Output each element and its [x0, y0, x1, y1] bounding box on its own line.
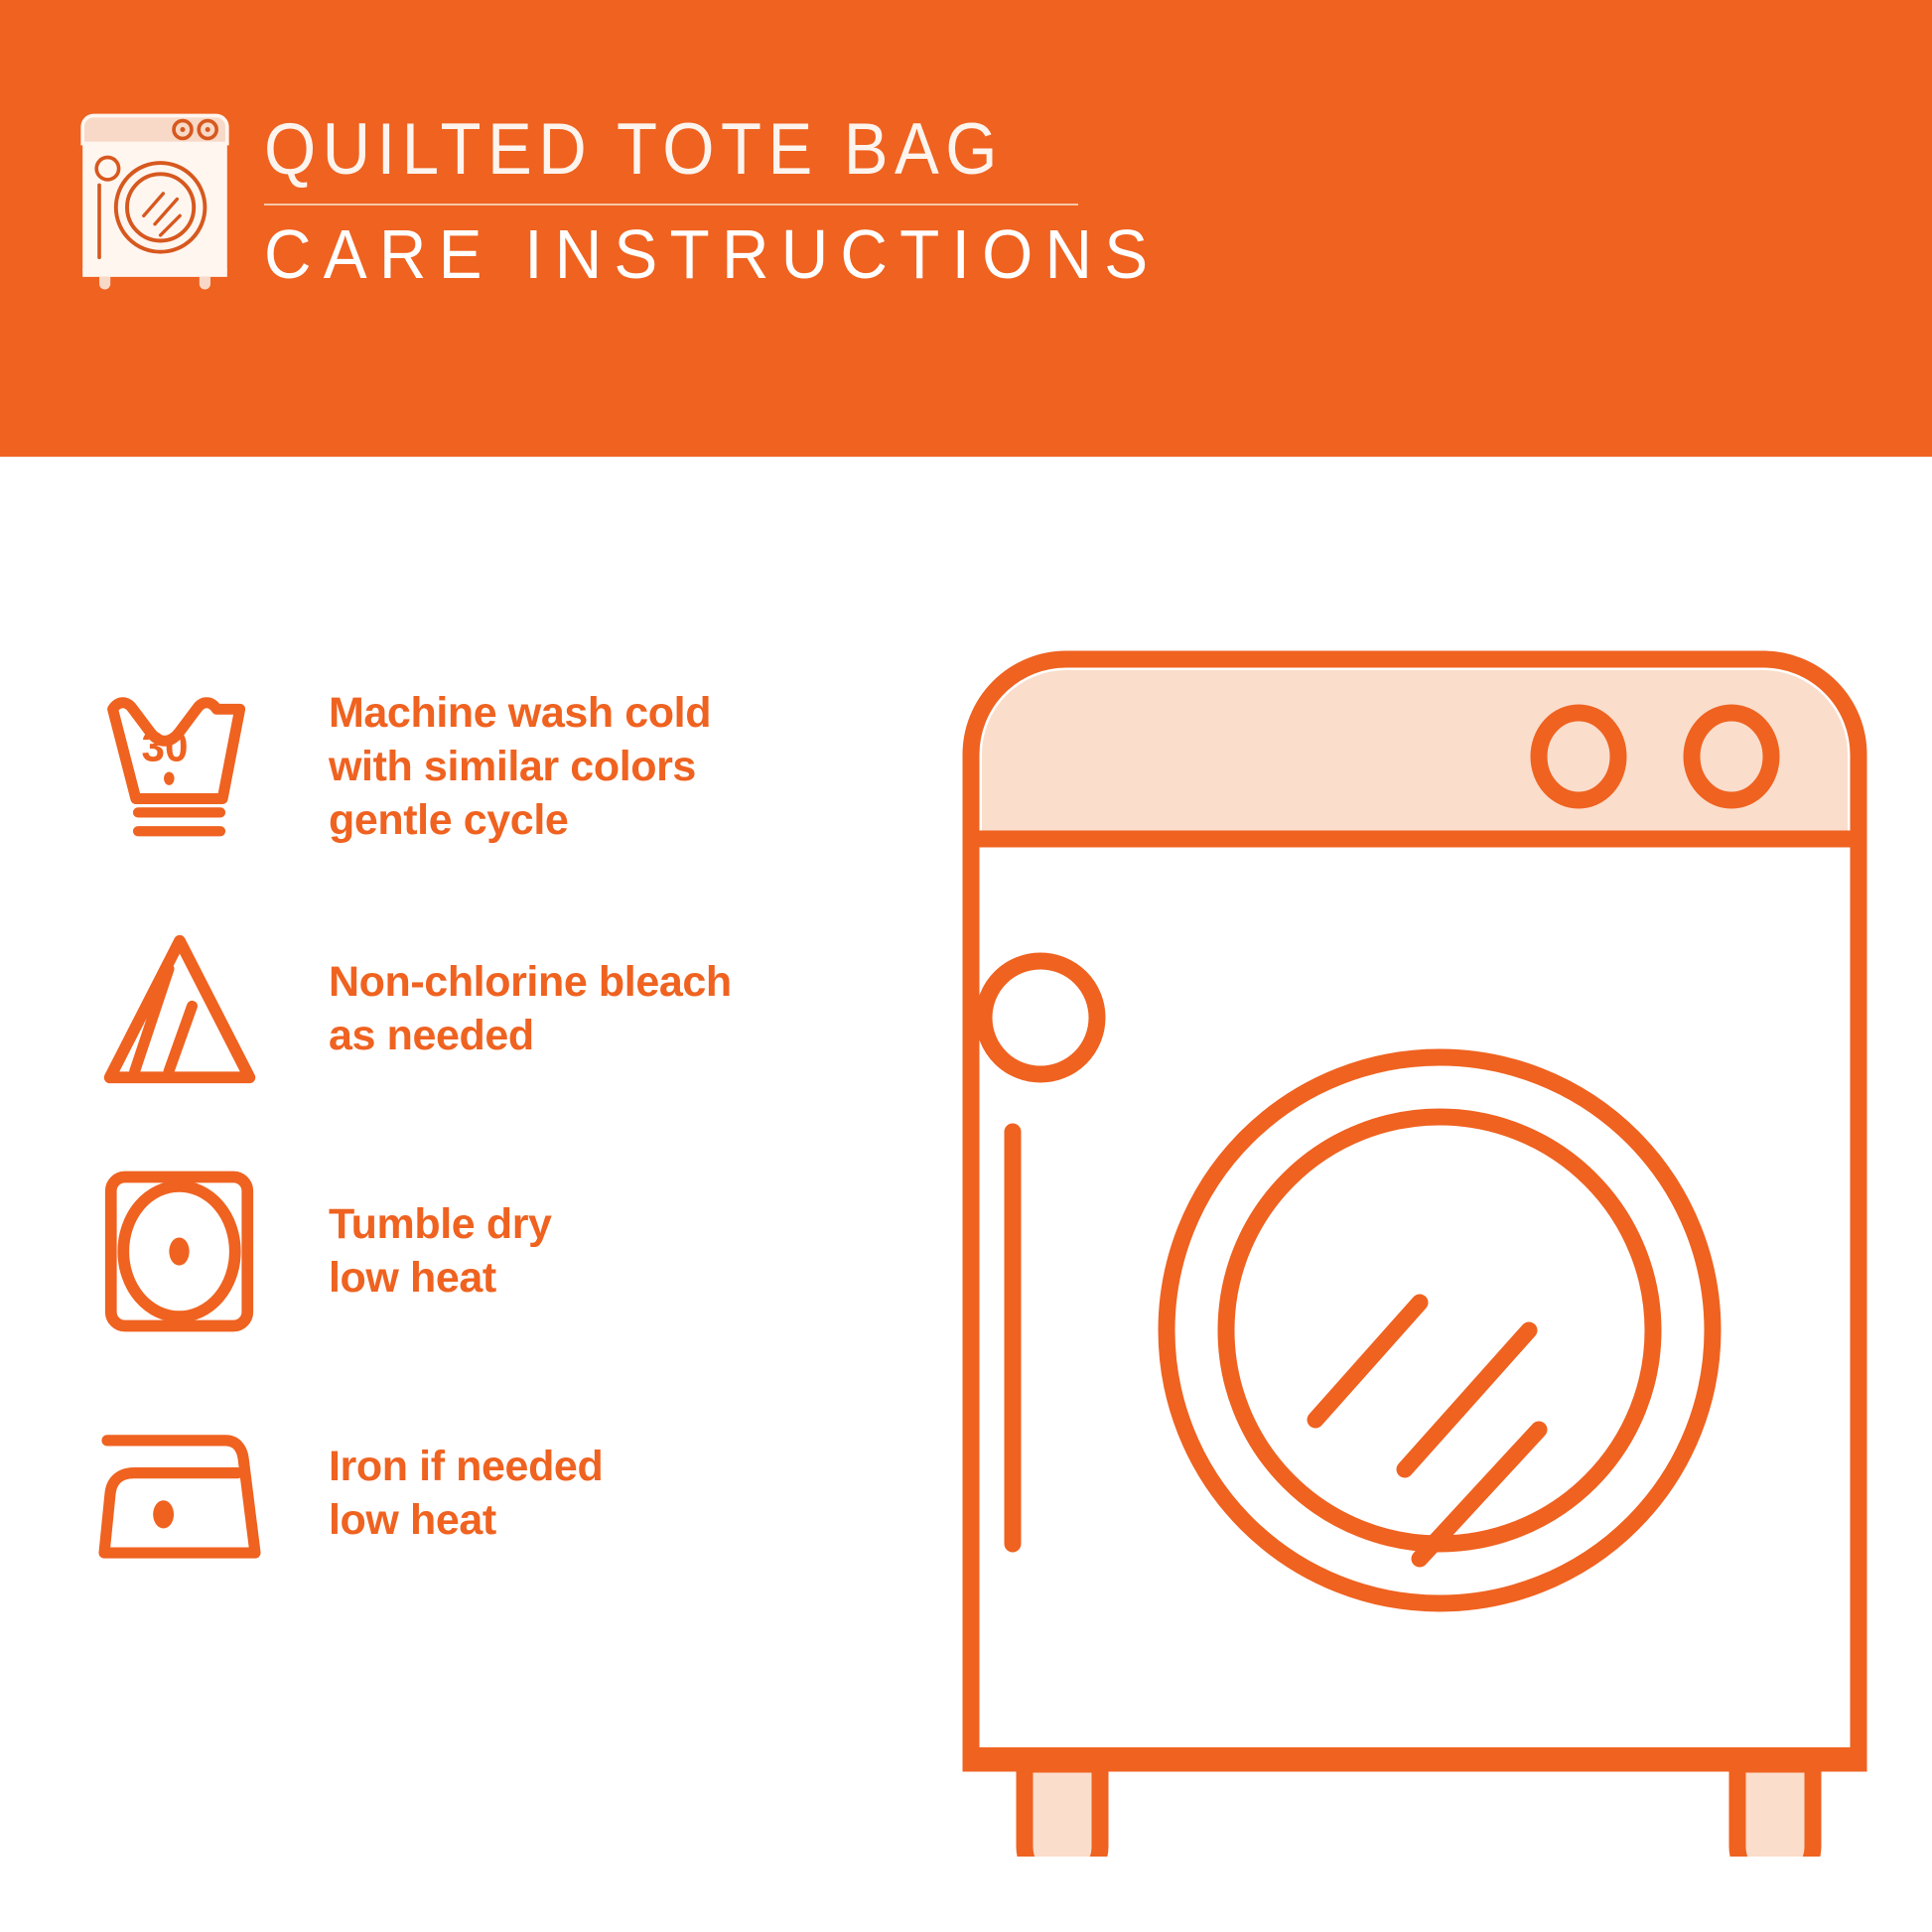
- care-line: as needed: [329, 1009, 732, 1062]
- wash-temperature-label: 30: [141, 723, 188, 769]
- header-banner: QUILTED TOTE BAG CARE INSTRUCTIONS: [0, 0, 1932, 457]
- care-line: low heat: [329, 1493, 603, 1547]
- care-line: with similar colors: [329, 740, 711, 793]
- care-line: Machine wash cold: [329, 686, 711, 740]
- wash-tub-30-gentle-icon: 30: [87, 675, 271, 859]
- care-line: Iron if needed: [329, 1440, 603, 1493]
- washing-machine-illustration: [953, 635, 1876, 1857]
- care-line: gentle cycle: [329, 793, 711, 847]
- care-row-iron: Iron if needed low heat: [0, 1372, 913, 1614]
- machine-leg: [1025, 1764, 1100, 1857]
- page-subtitle: CARE INSTRUCTIONS: [264, 219, 1160, 289]
- header-content: QUILTED TOTE BAG CARE INSTRUCTIONS: [71, 107, 1217, 291]
- non-chlorine-bleach-triangle-icon: [87, 917, 271, 1101]
- care-label-tumble-dry: Tumble dry low heat: [329, 1197, 552, 1305]
- care-label-bleach: Non-chlorine bleach as needed: [329, 955, 732, 1062]
- care-row-machine-wash: 30 Machine wash cold with similar colors…: [0, 645, 913, 888]
- tumble-dry-low-heat-icon: [87, 1160, 271, 1343]
- care-label-iron: Iron if needed low heat: [329, 1440, 603, 1547]
- care-row-tumble-dry: Tumble dry low heat: [0, 1130, 913, 1372]
- control-knob: [1539, 713, 1618, 800]
- care-line: Tumble dry: [329, 1197, 552, 1251]
- care-instruction-list: 30 Machine wash cold with similar colors…: [0, 645, 913, 1614]
- title-divider: [264, 204, 1078, 206]
- machine-leg: [1737, 1764, 1813, 1857]
- care-label-machine-wash: Machine wash cold with similar colors ge…: [329, 686, 711, 848]
- care-line: Non-chlorine bleach: [329, 955, 732, 1009]
- care-row-bleach: Non-chlorine bleach as needed: [0, 888, 913, 1130]
- control-knob: [1692, 713, 1771, 800]
- washing-machine-icon: [71, 107, 238, 291]
- iron-low-heat-icon: [87, 1402, 271, 1586]
- page-title: QUILTED TOTE BAG: [264, 113, 1141, 186]
- care-line: low heat: [329, 1251, 552, 1305]
- header-titles: QUILTED TOTE BAG CARE INSTRUCTIONS: [264, 107, 1217, 289]
